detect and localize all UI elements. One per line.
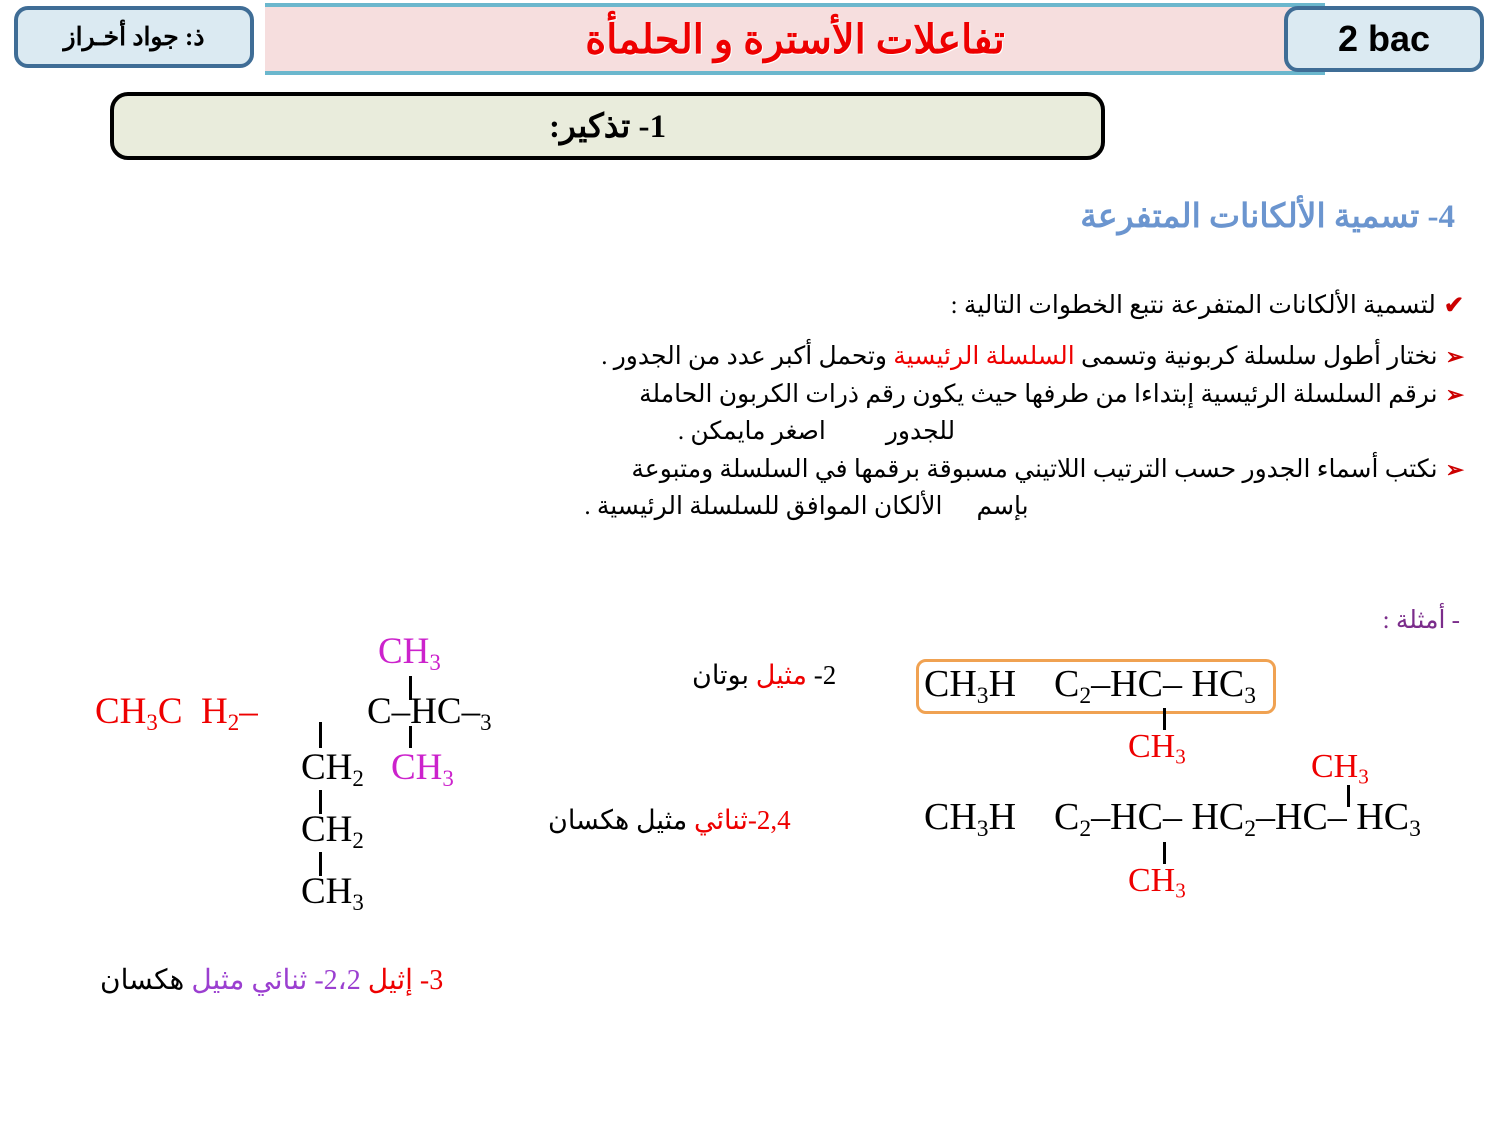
example1-name-prefix: 2- bbox=[807, 660, 836, 690]
step1-highlight: السلسلة الرئيسية bbox=[893, 343, 1074, 370]
arrow-icon: ➢ bbox=[1446, 457, 1464, 482]
arrow-icon: ➢ bbox=[1446, 344, 1464, 369]
arrow-icon: ➢ bbox=[1446, 382, 1464, 407]
check-icon: ✔ bbox=[1444, 293, 1464, 319]
example2-name-prefix: 2,4- bbox=[748, 805, 791, 835]
step3-line1: نكتب أسماء الجدور حسب الترتيب اللاتيني م… bbox=[631, 456, 1437, 483]
example2-branch-b: CH3 bbox=[1311, 748, 1369, 789]
page-title: تفاعلات الأسترة و الحلمأة bbox=[265, 3, 1325, 75]
example1-name: 2- مثيل بوتان bbox=[692, 660, 836, 691]
example3-structure: CH3C H2– CH3 C–HC–3 CH2 CH3 CH2 CH3 bbox=[95, 630, 575, 930]
step3-line2a: بإسم bbox=[976, 493, 1028, 520]
intro-text: لتسمية الألكانات المتفرعة نتبع الخطوات ا… bbox=[951, 292, 1436, 319]
structure-top-branch: CH3 bbox=[378, 630, 441, 676]
list-item: ➢نختار أطول سلسلة كربونية وتسمى السلسلة … bbox=[209, 340, 1464, 374]
slide-header: تفاعلات الأسترة و الحلمأة ذ: جواد أخـراز… bbox=[0, 0, 1500, 80]
step2-line2b: اصغر مايمكن . bbox=[678, 418, 826, 445]
structure-center-row: C–HC–3 bbox=[367, 690, 492, 736]
step1-part1: نختار أطول سلسلة كربونية وتسمى bbox=[1075, 343, 1438, 370]
step3-line2: بإسمالألكان الموافق للسلسلة الرئيسية . bbox=[209, 490, 1464, 524]
example1-name-highlight: مثيل bbox=[756, 660, 807, 690]
structure-side-branch: CH3 bbox=[391, 746, 454, 792]
example2-bond-a bbox=[1163, 842, 1166, 864]
step2-line1: نرقم السلسلة الرئيسية إبتداءا من طرفها ح… bbox=[639, 381, 1437, 408]
step2-line2a: للجدور bbox=[886, 418, 955, 445]
example1-formula: CH3H C2–HC– HC3 bbox=[924, 662, 1256, 710]
list-item: ➢نكتب أسماء الجدور حسب الترتيب اللاتيني … bbox=[209, 453, 1464, 487]
level-badge: 2 bac bbox=[1284, 6, 1484, 72]
teacher-badge: ذ: جواد أخـراز bbox=[14, 6, 254, 68]
section-title-box: 1- تذكير: bbox=[110, 92, 1105, 160]
structure-caption: 3- إثيل 2،2- ثنائي مثيل هكسان bbox=[100, 963, 443, 997]
steps-list: ➢نختار أطول سلسلة كربونية وتسمى السلسلة … bbox=[209, 340, 1464, 528]
intro-paragraph: ✔لتسمية الألكانات المتفرعة نتبع الخطوات … bbox=[724, 290, 1464, 321]
structure-ch2-second: CH2 bbox=[301, 808, 364, 854]
example1-branch: CH3 bbox=[1128, 728, 1186, 769]
structure-bond-side bbox=[409, 726, 412, 748]
example2-name: 2,4-ثنائي مثيل هكسان bbox=[548, 805, 791, 836]
caption-seg2: 2،2- ثنائي مثيل bbox=[191, 965, 360, 996]
structure-bond-c-ch2 bbox=[319, 722, 322, 748]
structure-ch2-first: CH2 bbox=[301, 746, 364, 792]
caption-seg3: هكسان bbox=[100, 965, 191, 996]
list-item: ➢نرقم السلسلة الرئيسية إبتداءا من طرفها … bbox=[209, 378, 1464, 412]
structure-left-chain: CH3C H2– bbox=[95, 690, 258, 736]
structure-ch3-bottom: CH3 bbox=[301, 870, 364, 916]
subsection-heading: 4- تسمية الألكانات المتفرعة bbox=[1080, 196, 1455, 236]
example2-branch-a: CH3 bbox=[1128, 862, 1186, 903]
caption-seg1: 3- إثيل bbox=[361, 965, 444, 996]
example1-bond bbox=[1163, 708, 1166, 730]
step2-line2: للجدوراصغر مايمكن . bbox=[209, 415, 1464, 449]
examples-label: - أمثلة : bbox=[1383, 605, 1460, 635]
step1-part2: وتحمل أكبر عدد من الجدور . bbox=[601, 343, 893, 370]
example1-name-suffix: بوتان bbox=[692, 660, 756, 690]
example2-name-highlight: ثنائي bbox=[694, 805, 748, 835]
step3-line2b: الألكان الموافق للسلسلة الرئيسية . bbox=[584, 493, 942, 520]
